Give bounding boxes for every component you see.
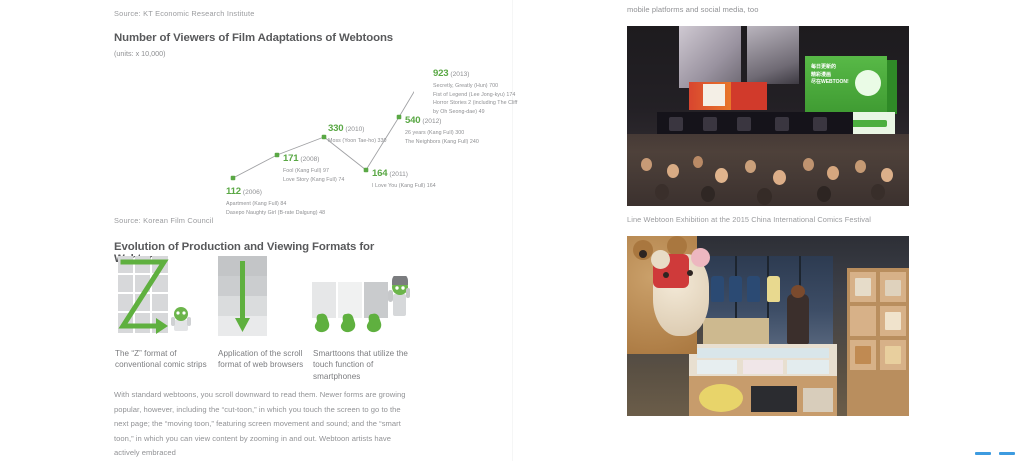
chart-point-label-2013: 923(2013)Secretly, Greatly (Hun) 700Fist… [433,63,517,116]
chart-marker-2011 [364,168,369,173]
panel-scroll-format [218,256,267,336]
chart-year: (2011) [389,171,408,178]
article-page: Source: KT Economic Research Institute N… [0,0,1024,461]
shelf-right [847,268,909,416]
chart-marker-2006 [231,176,236,181]
chart-value: 540 [405,115,420,126]
arrow-right-icon-2 [286,296,308,297]
chart-film-entry: The Neighbors (Kang Full) 240 [405,138,479,147]
chart-value: 171 [283,153,298,164]
banner-chinese-text: 每日更新的 精彩漫画 尽在WEBTOON! [811,64,849,87]
line-webtoon-exhibition-photo: 每日更新的 精彩漫画 尽在WEBTOON! [627,26,909,206]
source-note-middle: Source: Korean Film Council [114,216,213,226]
hand-touch-icon-1 [314,312,332,334]
chart-value: 923 [433,68,448,79]
webtoon-logo-icon [855,70,881,96]
caption-smarttoon: Smarttoons that utilize the touch functi… [313,348,413,382]
caption-scroll-format: Application of the scroll format of web … [218,348,313,371]
chart-film-entry: Apartment (Kang Full) 84 [226,200,325,209]
chart-units: (units: x 10,000) [114,49,166,58]
bottom-right-mark [975,452,1017,457]
arrow-right-icon-1 [194,296,216,297]
chart-title: Number of Viewers of Film Adaptations of… [114,32,393,44]
chart-marker-2012 [397,115,402,120]
source-note-top: Source: KT Economic Research Institute [114,9,255,19]
body-paragraph: With standard webtoons, you scroll downw… [114,388,415,461]
chart-film-list: Secretly, Greatly (Hun) 700Fist of Legen… [433,82,517,116]
chart-film-list: Fool (Kang Full) 97Love Story (Kang Full… [283,167,344,184]
chart-marker-2008 [275,153,280,158]
right-top-text: mobile platforms and social media, too [627,5,758,14]
chart-film-list: 26 years (Kang Full) 300The Neighbors (K… [405,129,479,146]
chart-film-entry: Secretly, Greatly (Hun) 700 [433,82,517,91]
webtoon-green-banner: 每日更新的 精彩漫画 尽在WEBTOON! [805,56,887,114]
chart-marker-2010 [322,135,327,140]
chart-film-list: Moss (Yoon Tae-ho) 330 [328,137,387,146]
panel-z-format [118,256,170,336]
chart-value: 330 [328,123,343,134]
chart-point-label-2010: 330(2010)Moss (Yoon Tae-ho) 330 [328,118,387,146]
mascot-icon-2 [388,276,410,318]
chart-film-entry: I Love You (Kang Full) 164 [372,182,436,191]
chart-film-entry: Fist of Legend (Lee Jong-kyu) 174 [433,91,517,100]
photo1-caption: Line Webtoon Exhibition at the 2015 Chin… [627,215,871,224]
down-arrow-icon [218,256,267,336]
z-arrow-icon [118,256,170,336]
chart-film-list: I Love You (Kang Full) 164 [372,182,436,191]
chart-film-entry: 26 years (Kang Full) 300 [405,129,479,138]
chart-point-label-2006: 112(2006)Apartment (Kang Full) 84Dasepo … [226,181,325,217]
chart-year: (2010) [345,126,364,133]
chart-film-entry: Horror Stories 2 (including The Cliff [433,99,517,108]
chart-film-entry: Dasepo Naughty Girl (B-rate Dalgung) 48 [226,209,325,218]
chart-point-label-2008: 171(2008)Fool (Kang Full) 97Love Story (… [283,148,344,184]
chart-film-entry: by Oh Seong-dae) 49 [433,108,517,117]
chart-film-entry: Fool (Kang Full) 97 [283,167,344,176]
chart-film-entry: Moss (Yoon Tae-ho) 330 [328,137,387,146]
plush-bear-cream [653,254,709,336]
chart-year: (2012) [422,118,441,125]
chart-year: (2013) [450,71,469,78]
hand-touch-icon-3 [366,312,384,334]
chart-point-label-2011: 164(2011)I Love You (Kang Full) 164 [372,163,436,191]
crowd [627,134,909,206]
mascot-icon-1 [171,304,191,332]
chart-value: 164 [372,168,387,179]
caption-z-format: The “Z” format of conventional comic str… [115,348,207,371]
hand-touch-icon-2 [340,312,358,334]
chart-film-list: Apartment (Kang Full) 84Dasepo Naughty G… [226,200,325,217]
evolution-diagram [114,256,414,341]
chart-film-entry: Love Story (Kang Full) 74 [283,176,344,185]
chart-value: 112 [226,186,241,197]
chart-year: (2008) [300,156,319,163]
viewers-line-chart: 112(2006)Apartment (Kang Full) 84Dasepo … [114,58,414,208]
panel-smarttoon [312,256,410,336]
chart-year: (2006) [243,189,262,196]
character-goods-store-photo [627,236,909,416]
